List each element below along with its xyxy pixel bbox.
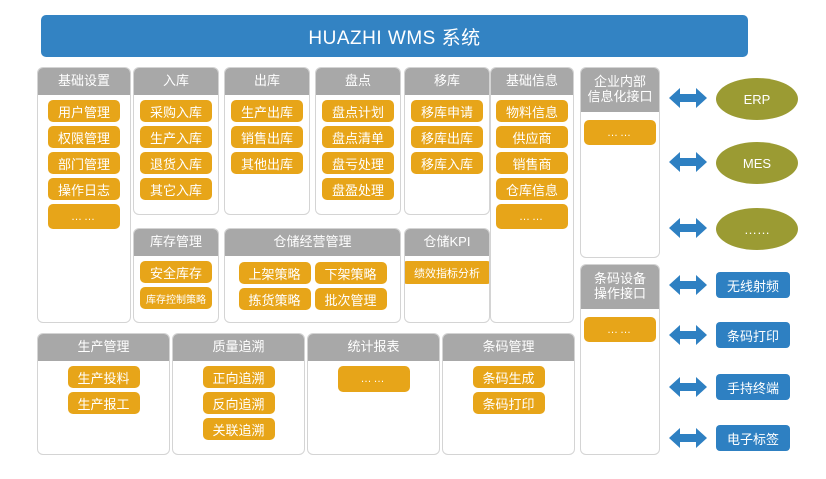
menu-button-other-outbound[interactable]: 其他出库 <box>231 152 303 174</box>
panel-body: …… <box>308 361 439 392</box>
menu-button-batch-management[interactable]: 批次管理 <box>315 288 387 310</box>
panel-title: 入库 <box>163 74 189 89</box>
panel-barcode-management[interactable]: 条码管理 条码生成 条码打印 <box>442 333 575 455</box>
menu-button-other-inbound[interactable]: 其它入库 <box>140 178 212 200</box>
menu-button-stock-surplus-handling[interactable]: 盘盈处理 <box>322 178 394 200</box>
bidirectional-arrow-icon <box>669 324 707 346</box>
panel-header: 入库 <box>134 68 218 95</box>
menu-button-backward-traceability[interactable]: 反向追溯 <box>203 392 275 414</box>
panel-body: 生产投料 生产报工 <box>38 361 169 414</box>
panel-production-management[interactable]: 生产管理 生产投料 生产报工 <box>37 333 170 455</box>
bidirectional-arrow-icon <box>669 376 707 398</box>
bidirectional-arrow-icon <box>669 151 707 173</box>
panel-header: 盘点 <box>316 68 400 95</box>
menu-button-barcode-printing[interactable]: 条码打印 <box>473 392 545 414</box>
menu-button-warehouse-information[interactable]: 仓库信息 <box>496 178 568 200</box>
panel-warehouse-kpi[interactable]: 仓储KPI 绩效指标分析 <box>404 228 490 323</box>
menu-button-material-information[interactable]: 物料信息 <box>496 100 568 122</box>
panel-body: 采购入库 生产入库 退货入库 其它入库 <box>134 95 218 200</box>
menu-button-more[interactable]: …… <box>584 317 656 342</box>
panel-header: 库存管理 <box>134 229 218 256</box>
panel-body: 上架策略 下架策略 拣货策略 批次管理 <box>225 256 400 310</box>
panel-title: 基础信息 <box>506 74 558 89</box>
panel-title: 库存管理 <box>150 235 202 250</box>
panel-title: 出库 <box>254 74 280 89</box>
menu-button-stocktaking-list[interactable]: 盘点清单 <box>322 126 394 148</box>
external-system-erp[interactable]: ERP <box>716 78 798 120</box>
menu-button-stocktaking-plan[interactable]: 盘点计划 <box>322 100 394 122</box>
badge-label: 手持终端 <box>727 378 779 397</box>
menu-button-picking-strategy[interactable]: 拣货策略 <box>239 288 311 310</box>
panel-body: 生产出库 销售出库 其他出库 <box>225 95 309 174</box>
panel-title: 盘点 <box>345 74 371 89</box>
menu-button-production-inbound[interactable]: 生产入库 <box>140 126 212 148</box>
menu-button-forward-traceability[interactable]: 正向追溯 <box>203 366 275 388</box>
device-badge-handheld-terminal[interactable]: 手持终端 <box>716 374 790 400</box>
bidirectional-arrow-icon <box>669 87 707 109</box>
menu-button-production-material-issue[interactable]: 生产投料 <box>68 366 140 388</box>
panel-title: 统计报表 <box>347 340 399 355</box>
panel-transfer[interactable]: 移库 移库申请 移库出库 移库入库 <box>404 67 490 215</box>
menu-button-associated-traceability[interactable]: 关联追溯 <box>203 418 275 440</box>
panel-quality-traceability[interactable]: 质量追溯 正向追溯 反向追溯 关联追溯 <box>172 333 305 455</box>
menu-button-stock-loss-handling[interactable]: 盘亏处理 <box>322 152 394 174</box>
panel-header: 出库 <box>225 68 309 95</box>
badge-label: 条码打印 <box>727 326 779 345</box>
panel-body: 条码生成 条码打印 <box>443 361 574 414</box>
menu-button-more[interactable]: …… <box>496 204 568 229</box>
panel-header: 移库 <box>405 68 489 95</box>
menu-button-purchase-inbound[interactable]: 采购入库 <box>140 100 212 122</box>
panel-body: 盘点计划 盘点清单 盘亏处理 盘盈处理 <box>316 95 400 200</box>
menu-button-more[interactable]: …… <box>584 120 656 145</box>
panel-statistical-reports[interactable]: 统计报表 …… <box>307 333 440 455</box>
panel-body: 安全库存 库存控制策略 <box>134 256 218 309</box>
page-title-text: HUAZHI WMS 系统 <box>308 23 480 50</box>
menu-button-safety-stock[interactable]: 安全库存 <box>140 261 212 283</box>
panel-header: 条码设备 操作接口 <box>581 265 659 309</box>
wms-architecture-diagram: HUAZHI WMS 系统 基础设置 用户管理 权限管理 部门管理 操作日志 …… <box>0 0 826 479</box>
external-system-mes[interactable]: MES <box>716 142 798 184</box>
panel-body: 绩效指标分析 <box>405 256 489 284</box>
menu-button-production-outbound[interactable]: 生产出库 <box>231 100 303 122</box>
panel-title: 基础设置 <box>58 74 110 89</box>
panel-warehouse-operation-management[interactable]: 仓储经营管理 上架策略 下架策略 拣货策略 批次管理 <box>224 228 401 323</box>
menu-button-barcode-generation[interactable]: 条码生成 <box>473 366 545 388</box>
panel-title: 质量追溯 <box>212 340 264 355</box>
panel-title: 仓储经营管理 <box>273 235 351 250</box>
menu-button-inventory-control-policy[interactable]: 库存控制策略 <box>140 287 212 309</box>
panel-body: 正向追溯 反向追溯 关联追溯 <box>173 361 304 440</box>
panel-title: 条码管理 <box>482 340 534 355</box>
panel-header: 基础信息 <box>491 68 573 95</box>
bidirectional-arrow-icon <box>669 217 707 239</box>
bidirectional-arrow-icon <box>669 427 707 449</box>
panel-header: 生产管理 <box>38 334 169 361</box>
page-title: HUAZHI WMS 系统 <box>41 15 748 57</box>
menu-button-permission-management[interactable]: 权限管理 <box>48 126 120 148</box>
panel-title: 移库 <box>434 74 460 89</box>
panel-body: 用户管理 权限管理 部门管理 操作日志 …… <box>38 95 130 229</box>
panel-stocktaking[interactable]: 盘点 盘点计划 盘点清单 盘亏处理 盘盈处理 <box>315 67 401 215</box>
panel-header: 仓储经营管理 <box>225 229 400 256</box>
menu-button-transfer-outbound[interactable]: 移库出库 <box>411 126 483 148</box>
panel-title-line2: 操作接口 <box>594 287 646 302</box>
menu-button-transfer-request[interactable]: 移库申请 <box>411 100 483 122</box>
panel-title: 生产管理 <box>77 340 129 355</box>
panel-header: 基础设置 <box>38 68 130 95</box>
panel-header: 企业内部 信息化接口 <box>581 68 659 112</box>
menu-button-transfer-inbound[interactable]: 移库入库 <box>411 152 483 174</box>
panel-outbound[interactable]: 出库 生产出库 销售出库 其他出库 <box>224 67 310 215</box>
badge-label: ERP <box>744 92 771 107</box>
menu-button-department-management[interactable]: 部门管理 <box>48 152 120 174</box>
external-system-more[interactable]: …… <box>716 208 798 250</box>
panel-body: …… <box>581 112 659 145</box>
panel-basic-settings[interactable]: 基础设置 用户管理 权限管理 部门管理 操作日志 …… <box>37 67 131 323</box>
device-badge-electronic-label[interactable]: 电子标签 <box>716 425 790 451</box>
panel-header: 仓储KPI <box>405 229 489 256</box>
panel-header: 质量追溯 <box>173 334 304 361</box>
bidirectional-arrow-icon <box>669 274 707 296</box>
menu-button-production-reporting[interactable]: 生产报工 <box>68 392 140 414</box>
panel-title-line2: 信息化接口 <box>587 90 652 105</box>
panel-inbound[interactable]: 入库 采购入库 生产入库 退货入库 其它入库 <box>133 67 219 215</box>
badge-label: …… <box>744 222 770 237</box>
menu-button-putaway-strategy[interactable]: 上架策略 <box>239 262 311 284</box>
menu-button-operation-log[interactable]: 操作日志 <box>48 178 120 200</box>
badge-label: 电子标签 <box>727 429 779 448</box>
panel-header: 统计报表 <box>308 334 439 361</box>
device-badge-rfid[interactable]: 无线射频 <box>716 272 790 298</box>
menu-button-performance-indicator-analysis[interactable]: 绩效指标分析 <box>404 261 490 284</box>
panel-title: 仓储KPI <box>424 235 471 250</box>
panel-header: 条码管理 <box>443 334 574 361</box>
menu-button-retrieval-strategy[interactable]: 下架策略 <box>315 262 387 284</box>
panel-title-line1: 企业内部 <box>594 75 646 90</box>
panel-title-line1: 条码设备 <box>594 272 646 287</box>
panel-basic-information[interactable]: 基础信息 物料信息 供应商 销售商 仓库信息 …… <box>490 67 574 323</box>
panel-inventory-management[interactable]: 库存管理 安全库存 库存控制策略 <box>133 228 219 323</box>
panel-body: …… <box>581 309 659 342</box>
menu-button-user-management[interactable]: 用户管理 <box>48 100 120 122</box>
menu-button-more[interactable]: …… <box>338 366 410 392</box>
menu-button-supplier[interactable]: 供应商 <box>496 126 568 148</box>
panel-body: 移库申请 移库出库 移库入库 <box>405 95 489 174</box>
panel-enterprise-internal-informatization-interface[interactable]: 企业内部 信息化接口 …… <box>580 67 660 258</box>
badge-label: MES <box>743 156 771 171</box>
badge-label: 无线射频 <box>727 276 779 295</box>
menu-button-distributor[interactable]: 销售商 <box>496 152 568 174</box>
menu-button-sales-outbound[interactable]: 销售出库 <box>231 126 303 148</box>
device-badge-barcode-printer[interactable]: 条码打印 <box>716 322 790 348</box>
menu-button-more[interactable]: …… <box>48 204 120 229</box>
panel-body: 物料信息 供应商 销售商 仓库信息 …… <box>491 95 573 229</box>
menu-button-return-inbound[interactable]: 退货入库 <box>140 152 212 174</box>
panel-barcode-device-operation-interface[interactable]: 条码设备 操作接口 …… <box>580 264 660 455</box>
